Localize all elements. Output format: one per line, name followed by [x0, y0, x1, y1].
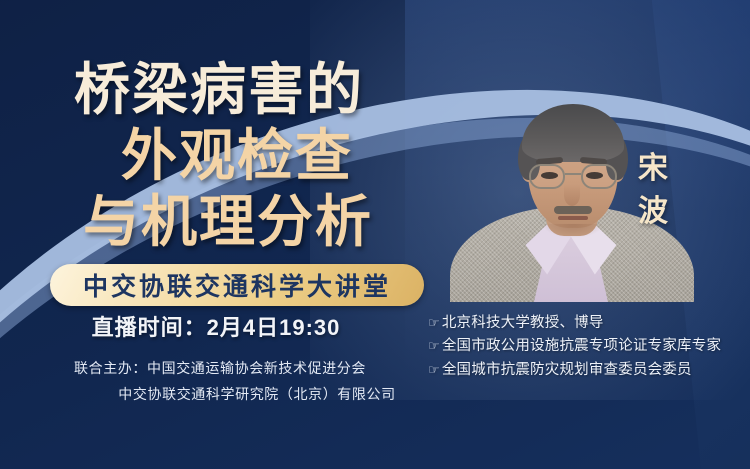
pointing-hand-icon: ☞ — [428, 359, 440, 380]
speaker-name: 宋波 — [632, 148, 676, 233]
portrait-chin-shadow — [542, 224, 604, 238]
poster-title: 桥梁病害的 外观检查 与机理分析 — [0, 62, 430, 250]
glasses-lens-left — [529, 164, 565, 189]
portrait-mustache — [554, 206, 592, 214]
organizer-line-2: 中交协联交通科学研究院（北京）有限公司 — [0, 382, 440, 408]
subtitle-pill: 中交协联交通科学大讲堂 — [50, 264, 424, 306]
portrait-mouth — [558, 216, 588, 220]
organizer-line-1-text: 联合主办：中国交通运输协会新技术促进分会 — [74, 356, 366, 382]
pointing-hand-icon: ☞ — [428, 312, 440, 333]
pointing-hand-icon: ☞ — [428, 335, 440, 356]
organizers-block: 联合主办：中国交通运输协会新技术促进分会 中交协联交通科学研究院（北京）有限公司 — [0, 356, 440, 408]
credential-text: 全国市政公用设施抗震专项论证专家库专家 — [442, 335, 721, 358]
credential-row: ☞ 全国市政公用设施抗震专项论证专家库专家 — [428, 335, 746, 358]
organizer-line-1: 联合主办：中国交通运输协会新技术促进分会 — [0, 356, 440, 382]
glasses-lens-right — [581, 164, 617, 189]
webinar-poster: 桥梁病害的 外观检查 与机理分析 中交协联交通科学大讲堂 直播时间：2月4日19… — [0, 0, 750, 469]
organizer-line-2-text: 中交协联交通科学研究院（北京）有限公司 — [118, 382, 395, 408]
title-line-1: 桥梁病害的 — [0, 62, 430, 118]
credential-row: ☞ 北京科技大学教授、博导 — [428, 312, 746, 335]
glasses-bridge — [565, 173, 581, 175]
title-line-3: 与机理分析 — [0, 194, 430, 250]
subtitle-pill-label: 中交协联交通科学大讲堂 — [83, 267, 391, 303]
speaker-credentials: ☞ 北京科技大学教授、博导 ☞ 全国市政公用设施抗震专项论证专家库专家 ☞ 全国… — [428, 312, 746, 382]
title-line-2: 外观检查 — [0, 128, 430, 184]
credential-text: 北京科技大学教授、博导 — [442, 312, 604, 335]
credential-row: ☞ 全国城市抗震防灾规划审查委员会委员 — [428, 359, 746, 382]
credential-text: 全国城市抗震防灾规划审查委员会委员 — [442, 359, 692, 382]
broadcast-time: 直播时间：2月4日19:30 — [0, 310, 432, 342]
portrait-hair-top — [522, 104, 624, 162]
portrait-nose — [564, 184, 580, 206]
